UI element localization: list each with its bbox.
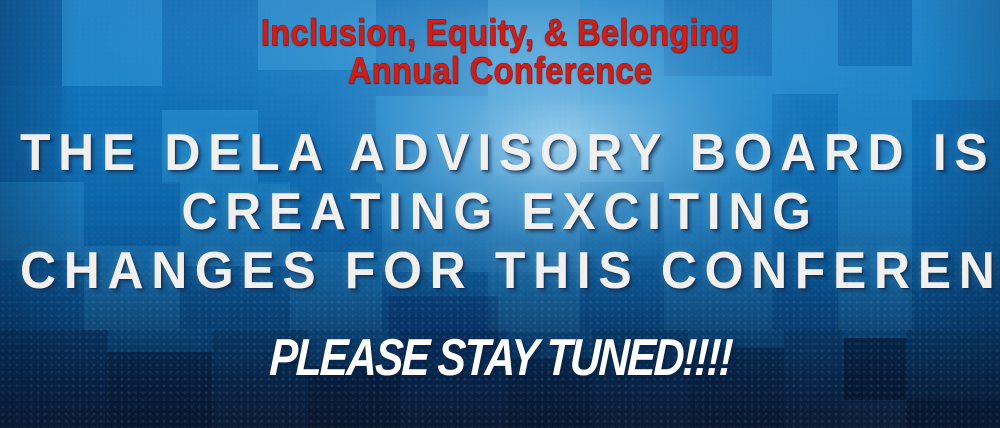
stay-tuned-text: PLEASE STAY TUNED!!!! bbox=[268, 330, 732, 386]
event-title-line-2: Annual Conference bbox=[60, 52, 940, 90]
event-title-line-1: Inclusion, Equity, & Belonging bbox=[60, 14, 940, 52]
event-title: Inclusion, Equity, & Belonging Annual Co… bbox=[0, 14, 1000, 90]
conference-banner: Inclusion, Equity, & Belonging Annual Co… bbox=[0, 0, 1000, 428]
banner-content: Inclusion, Equity, & Belonging Annual Co… bbox=[0, 0, 1000, 428]
headline-line-1: THE DELA ADVISORY BOARD IS bbox=[20, 124, 980, 183]
headline-line-2: CREATING EXCITING bbox=[20, 183, 980, 242]
headline-line-3: CHANGES FOR THIS CONFERENCE. bbox=[20, 242, 980, 301]
stay-tuned-callout: PLEASE STAY TUNED!!!! bbox=[0, 330, 1000, 386]
announcement-headline: THE DELA ADVISORY BOARD IS CREATING EXCI… bbox=[0, 124, 1000, 301]
